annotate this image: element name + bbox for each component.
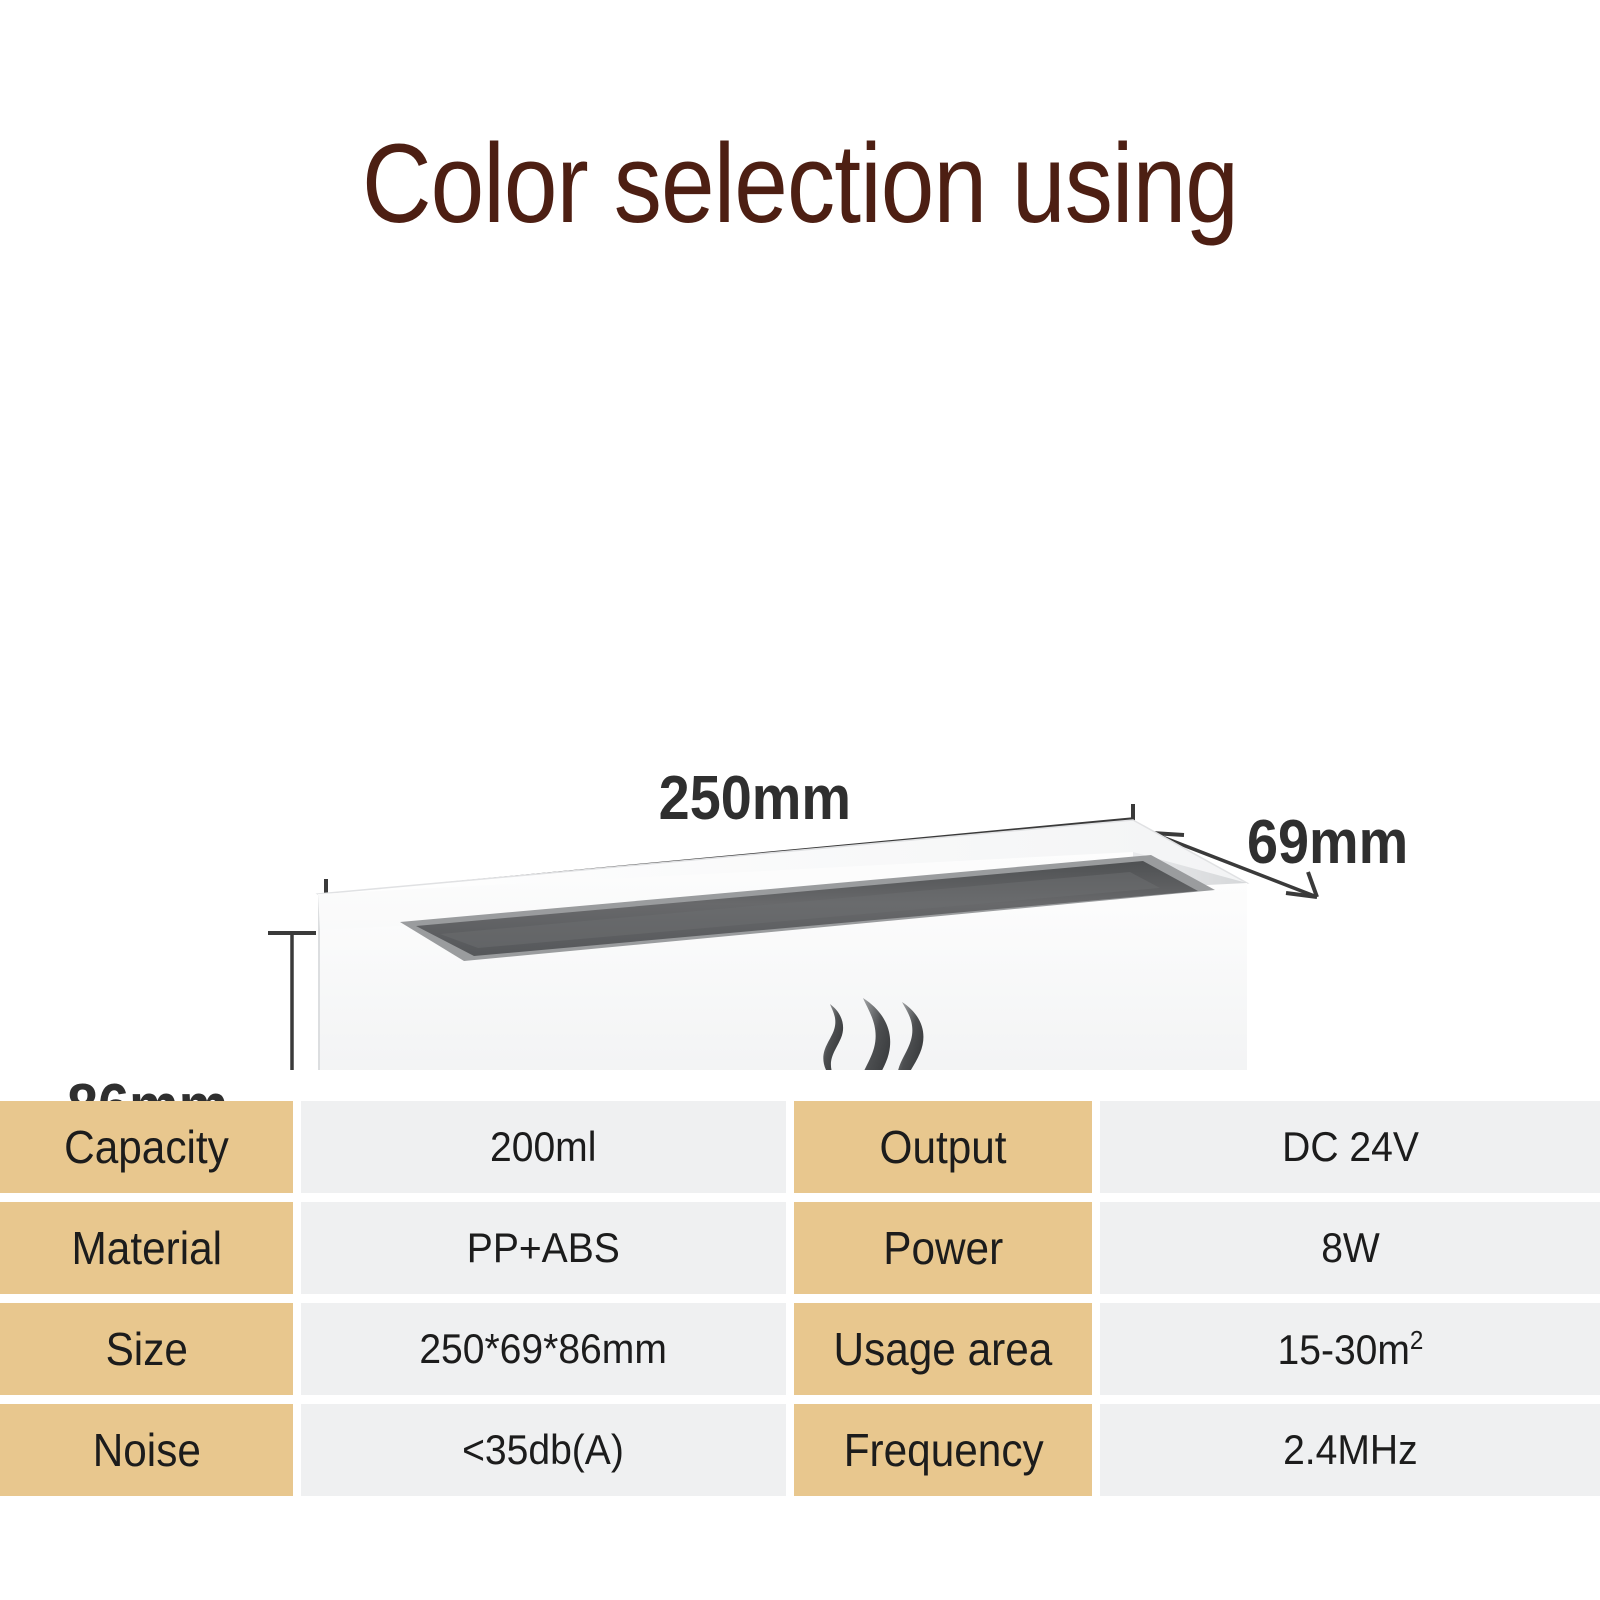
spec-value-superscript: 2 <box>1410 1325 1423 1355</box>
spec-value-material: PP+ABS <box>293 1193 786 1294</box>
spec-label-text: Frequency <box>843 1423 1043 1477</box>
spec-label-capacity: Capacity <box>0 1101 293 1193</box>
spec-label-text: Usage area <box>834 1322 1053 1376</box>
width-dimension-label: 250mm <box>659 768 851 830</box>
spec-value-frequency: 2.4MHz <box>1092 1395 1600 1496</box>
depth-dimension-label: 69mm <box>1247 812 1408 874</box>
spec-value-output: DC 24V <box>1092 1101 1600 1193</box>
product-illustration: 250mm 69mm 86mm <box>0 370 1600 1070</box>
spec-value-number: 15-30m <box>1277 1326 1409 1373</box>
spec-label-power: Power <box>786 1193 1092 1294</box>
specification-table: Capacity 200ml Output DC 24V Material PP… <box>0 1101 1600 1496</box>
spec-label-usage-area: Usage area <box>786 1294 1092 1395</box>
spec-value-text: 15-30m2 <box>1277 1325 1423 1374</box>
spec-value-size: 250*69*86mm <box>293 1294 786 1395</box>
spec-label-text: Power <box>883 1221 1003 1275</box>
spec-label-noise: Noise <box>0 1395 293 1496</box>
product-body <box>318 820 1247 1070</box>
spec-value-noise: <35db(A) <box>293 1395 786 1496</box>
spec-value-text: 2.4MHz <box>1283 1426 1418 1474</box>
table-row: Size 250*69*86mm Usage area 15-30m2 <box>0 1294 1600 1395</box>
spec-label-material: Material <box>0 1193 293 1294</box>
table-row: Capacity 200ml Output DC 24V <box>0 1101 1600 1193</box>
product-drawing <box>0 370 1600 1070</box>
spec-label-text: Output <box>880 1120 1007 1174</box>
spec-value-text: 250*69*86mm <box>420 1325 668 1373</box>
spec-value-text: 8W <box>1321 1224 1380 1272</box>
table-row: Noise <35db(A) Frequency 2.4MHz <box>0 1395 1600 1496</box>
spec-value-power: 8W <box>1092 1193 1600 1294</box>
spec-value-text: PP+ABS <box>467 1224 620 1272</box>
spec-label-size: Size <box>0 1294 293 1395</box>
spec-label-frequency: Frequency <box>786 1395 1092 1496</box>
spec-label-output: Output <box>786 1101 1092 1193</box>
spec-label-text: Capacity <box>64 1120 229 1174</box>
spec-value-usage-area: 15-30m2 <box>1092 1294 1600 1395</box>
table-row: Material PP+ABS Power 8W <box>0 1193 1600 1294</box>
spec-label-text: Noise <box>92 1423 200 1477</box>
spec-value-text: DC 24V <box>1282 1123 1419 1171</box>
spec-value-capacity: 200ml <box>293 1101 786 1193</box>
spec-label-text: Material <box>71 1221 222 1275</box>
page-title: Color selection using <box>112 128 1488 240</box>
spec-label-text: Size <box>105 1322 187 1376</box>
spec-value-text: 200ml <box>490 1123 596 1171</box>
spec-value-text: <35db(A) <box>462 1426 624 1474</box>
